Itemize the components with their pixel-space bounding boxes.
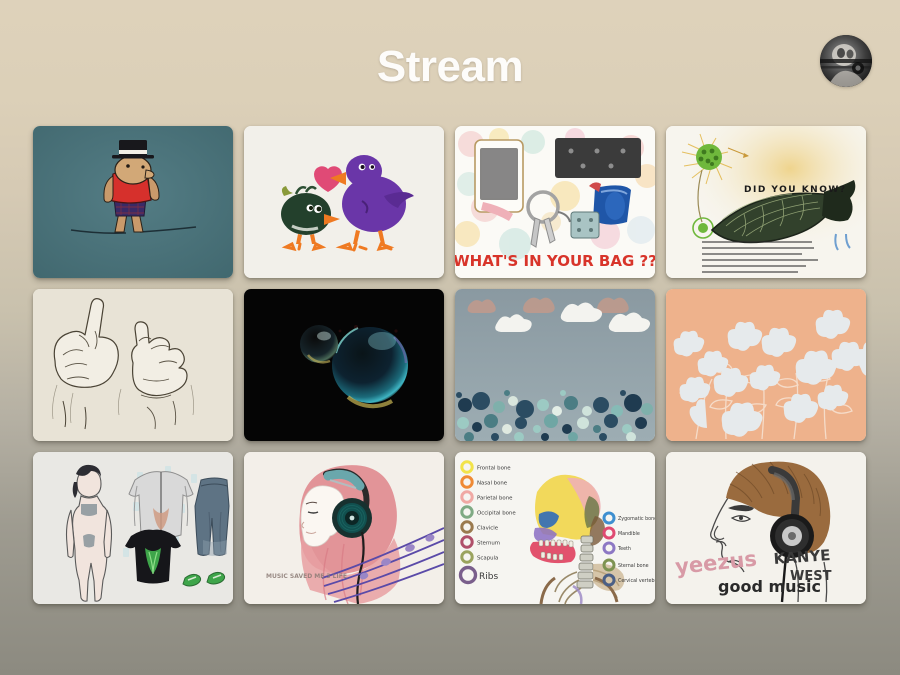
artwork-clouds-and-dots bbox=[455, 289, 655, 441]
gallery-card-skull-anatomy[interactable]: Frontal bone Nasal bone Parietal bone Oc… bbox=[455, 452, 655, 604]
svg-text:Nasal bone: Nasal bone bbox=[477, 481, 508, 487]
artwork-skull-anatomy-diagram: Frontal bone Nasal bone Parietal bone Oc… bbox=[455, 452, 655, 604]
svg-text:Frontal bone: Frontal bone bbox=[477, 466, 511, 472]
page-title: Stream bbox=[0, 42, 900, 92]
gallery-card-white-flowers[interactable] bbox=[666, 289, 866, 441]
svg-text:Parietal bone: Parietal bone bbox=[477, 496, 513, 502]
artwork-paper-doll-outfit bbox=[33, 452, 233, 604]
artwork-did-you-know: DID YOU KNOW? bbox=[666, 126, 866, 278]
artwork-soap-bubbles bbox=[244, 289, 444, 441]
svg-text:Mandible: Mandible bbox=[618, 531, 640, 537]
svg-text:Teeth: Teeth bbox=[617, 546, 631, 552]
svg-text:Clavicle: Clavicle bbox=[477, 526, 499, 532]
artwork-white-flowers-on-peach bbox=[666, 289, 866, 441]
gallery-card-did-you-know[interactable]: DID YOU KNOW? bbox=[666, 126, 866, 278]
card-caption-good-music: good music bbox=[718, 577, 821, 596]
gallery-card-paper-doll[interactable] bbox=[33, 452, 233, 604]
gallery-card-love-birds[interactable] bbox=[244, 126, 444, 278]
avatar-photo-icon bbox=[820, 35, 872, 87]
svg-text:Sternum: Sternum bbox=[477, 541, 500, 547]
stream-gallery-grid: WHAT'S IN YOUR BAG ?? bbox=[33, 126, 867, 604]
svg-text:Cervical vertebrae: Cervical vertebrae bbox=[618, 578, 655, 584]
artwork-yeezus-portrait: yeezus KANYE WEST good music bbox=[666, 452, 866, 604]
gallery-card-hamster-in-top-hat[interactable] bbox=[33, 126, 233, 278]
gallery-card-soap-bubbles[interactable] bbox=[244, 289, 444, 441]
card-caption: MUSIC SAVED ME 3 LIFE bbox=[266, 573, 347, 580]
page-header: Stream bbox=[0, 0, 900, 120]
artwork-love-birds bbox=[244, 126, 444, 278]
svg-text:Sternal bone: Sternal bone bbox=[618, 563, 649, 569]
svg-text:Occipital bone: Occipital bone bbox=[477, 511, 516, 517]
gallery-card-girl-with-headphones[interactable]: MUSIC SAVED ME 3 LIFE bbox=[244, 452, 444, 604]
svg-text:Ribs: Ribs bbox=[479, 572, 498, 582]
artwork-hamster-in-top-hat bbox=[33, 126, 233, 278]
artwork-whats-in-your-bag: WHAT'S IN YOUR BAG ?? bbox=[455, 126, 655, 278]
card-caption: WHAT'S IN YOUR BAG ?? bbox=[455, 252, 655, 270]
gallery-card-yeezus-portrait[interactable]: yeezus KANYE WEST good music bbox=[666, 452, 866, 604]
gallery-card-clouds-and-dots[interactable] bbox=[455, 289, 655, 441]
svg-text:Scapula: Scapula bbox=[477, 556, 498, 562]
card-caption: DID YOU KNOW? bbox=[744, 185, 847, 195]
gallery-card-whats-in-your-bag[interactable]: WHAT'S IN YOUR BAG ?? bbox=[455, 126, 655, 278]
gallery-card-pencil-hand-studies[interactable] bbox=[33, 289, 233, 441]
avatar[interactable] bbox=[820, 35, 872, 87]
artwork-girl-with-headphones: MUSIC SAVED ME 3 LIFE bbox=[244, 452, 444, 604]
artwork-pencil-hand-studies bbox=[33, 289, 233, 441]
svg-text:Zygomatic bone: Zygomatic bone bbox=[618, 516, 655, 522]
